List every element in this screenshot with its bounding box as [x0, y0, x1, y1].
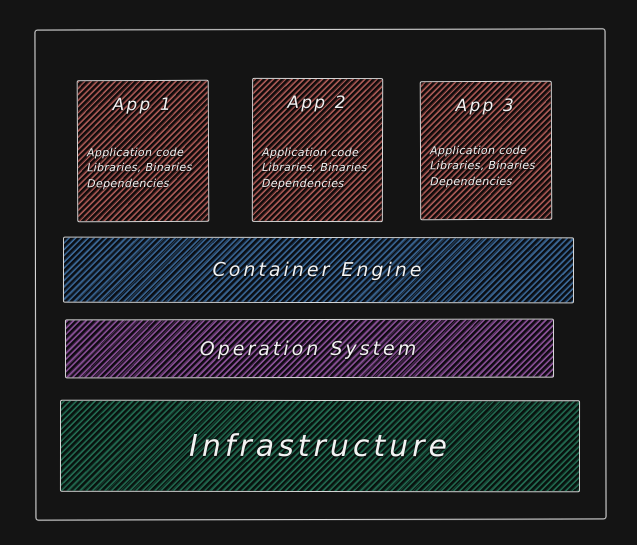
layer-infrastructure-label: Infrastructure	[189, 428, 451, 463]
layer-container-engine-label: Container Engine	[212, 259, 424, 281]
app-box-3-detail-line: Dependencies	[430, 173, 542, 189]
app-box-2-details: Application code Libraries, Binaries Dep…	[262, 144, 373, 191]
app-box-3-title: App 3	[430, 96, 542, 116]
layer-operation-system[interactable]: Operation System	[65, 319, 554, 379]
layer-operation-system-label: Operation System	[200, 337, 419, 359]
app-box-2-detail-line: Application code	[262, 144, 373, 160]
app-box-1[interactable]: App 1 Application code Libraries, Binari…	[77, 80, 210, 223]
app-box-2-detail-line: Dependencies	[262, 175, 373, 191]
app-box-3-detail-line: Application code	[430, 142, 542, 158]
app-box-3-details: Application code Libraries, Binaries Dep…	[430, 142, 542, 189]
app-box-1-title: App 1	[87, 95, 199, 115]
app-box-1-detail-line: Dependencies	[87, 175, 199, 191]
layer-infrastructure[interactable]: Infrastructure	[60, 400, 580, 493]
layer-container-engine[interactable]: Container Engine	[63, 237, 574, 304]
app-box-1-detail-line: Libraries, Binaries	[87, 160, 199, 176]
app-box-1-detail-line: Application code	[87, 144, 199, 160]
diagram-canvas: App 1 Application code Libraries, Binari…	[0, 0, 637, 545]
app-box-2[interactable]: App 2 Application code Libraries, Binari…	[252, 78, 383, 222]
app-box-3[interactable]: App 3 Application code Libraries, Binari…	[420, 81, 552, 220]
app-box-3-detail-line: Libraries, Binaries	[430, 158, 542, 174]
app-box-2-detail-line: Libraries, Binaries	[262, 160, 373, 176]
app-box-2-title: App 2	[262, 93, 373, 113]
app-box-1-details: Application code Libraries, Binaries Dep…	[87, 144, 199, 191]
